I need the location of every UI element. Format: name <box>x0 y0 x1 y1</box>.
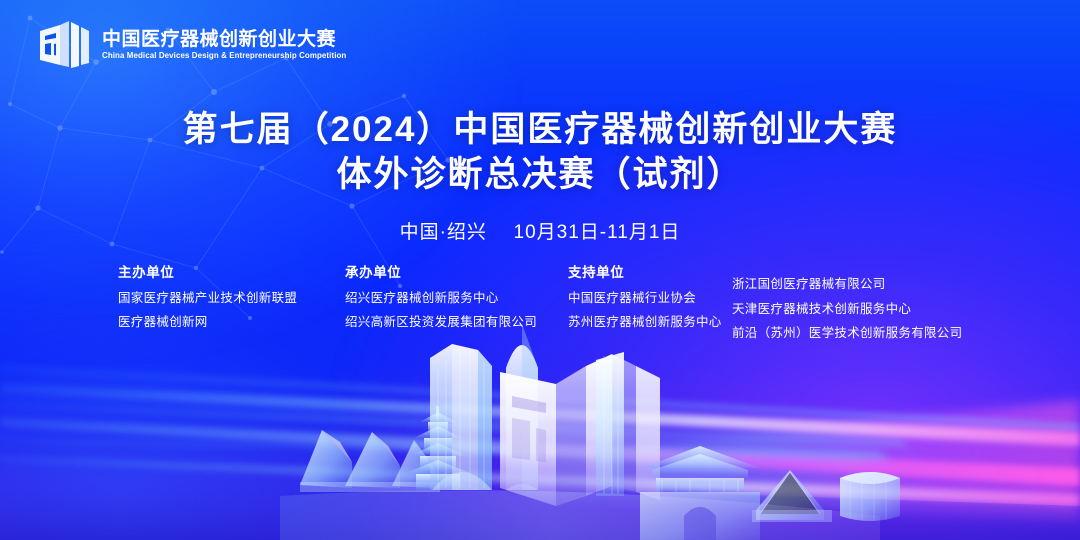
organizers-section: 主办单位 国家医疗器械产业技术创新联盟 医疗器械创新网 承办单位 绍兴医疗器械创… <box>118 266 998 361</box>
organizer-item: 绍兴医疗器械创新服务中心 <box>345 292 537 305</box>
organizer-column-host: 主办单位 国家医疗器械产业技术创新联盟 医疗器械创新网 <box>118 266 297 341</box>
event-dates: 10月31日-11月1日 <box>514 222 681 243</box>
competition-open-book-logo-icon <box>38 20 92 70</box>
title-line-1: 第七届（2024）中国医疗器械创新创业大赛 <box>0 108 1080 153</box>
organizer-item: 天津医疗器械技术创新服务中心 <box>732 303 962 316</box>
organizer-item: 医疗器械创新网 <box>118 316 297 329</box>
ribbed-skyscraper-icon <box>596 352 624 496</box>
page-title: 第七届（2024）中国医疗器械创新创业大赛 体外诊断总决赛（试剂） <box>0 108 1080 198</box>
organizer-item: 浙江国创医疗器械有限公司 <box>732 278 962 291</box>
organizer-heading: 支持单位 <box>568 266 722 280</box>
logo-name-en: China Medical Devices Design & Entrepren… <box>102 51 346 61</box>
logo-name-cn: 中国医疗器械创新创业大赛 <box>102 29 349 51</box>
organizer-heading: 承办单位 <box>345 266 537 280</box>
competition-logo: 中国医疗器械创新创业大赛 China Medical Devices Desig… <box>38 20 349 70</box>
event-banner: 中国医疗器械创新创业大赛 China Medical Devices Desig… <box>0 0 1080 540</box>
organizer-item: 前沿（苏州）医学技术创新服务有限公司 <box>732 327 962 340</box>
organizer-column-supporter-continued: 浙江国创医疗器械有限公司 天津医疗器械技术创新服务中心 前沿（苏州）医学技术创新… <box>732 266 962 352</box>
organizer-item: 苏州医疗器械创新服务中心 <box>568 316 722 329</box>
event-location: 中国·绍兴 <box>400 222 487 243</box>
organizer-heading: 主办单位 <box>118 266 297 280</box>
organizer-item: 国家医疗器械产业技术创新联盟 <box>118 292 297 305</box>
glass-skyscraper-icon <box>430 344 492 490</box>
organizer-item: 中国医疗器械行业协会 <box>568 292 722 305</box>
organizer-column-supporter: 支持单位 中国医疗器械行业协会 苏州医疗器械创新服务中心 <box>568 266 722 341</box>
title-line-2: 体外诊断总决赛（试剂） <box>0 153 1080 198</box>
organizer-column-undertaker: 承办单位 绍兴医疗器械创新服务中心 绍兴高新区投资发展集团有限公司 <box>345 266 537 341</box>
event-subtitle: 中国·绍兴 10月31日-11月1日 <box>0 217 1080 244</box>
organizer-item: 绍兴高新区投资发展集团有限公司 <box>345 316 537 329</box>
